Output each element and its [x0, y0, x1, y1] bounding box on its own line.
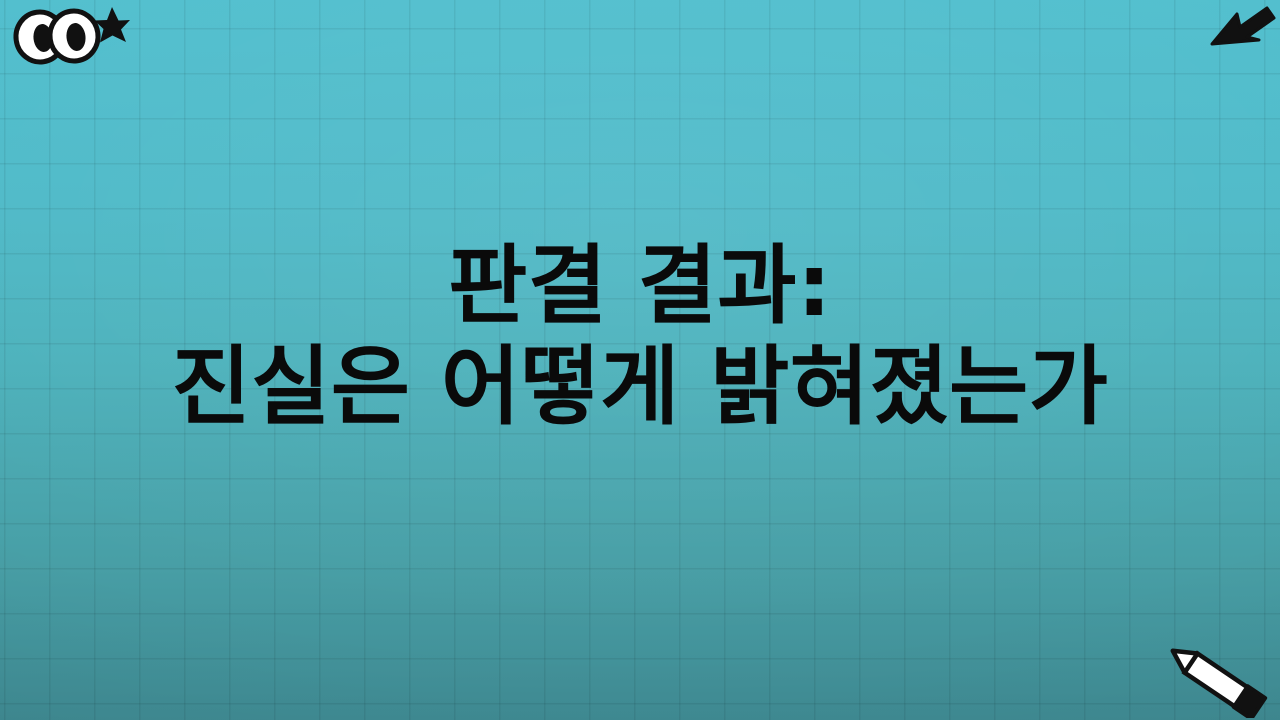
- title-line-2: 진실은 어떻게 밝혀졌는가: [24, 337, 1256, 438]
- arrow-down-left-icon: [1204, 2, 1276, 54]
- eyes-star-logo-icon: [8, 2, 130, 68]
- slide-canvas: 판결 결과: 진실은 어떻게 밝혀졌는가: [0, 0, 1280, 720]
- slide-title: 판결 결과: 진실은 어떻게 밝혀졌는가: [0, 236, 1280, 438]
- title-line-1: 판결 결과:: [24, 236, 1256, 337]
- pencil-icon: [1158, 642, 1276, 718]
